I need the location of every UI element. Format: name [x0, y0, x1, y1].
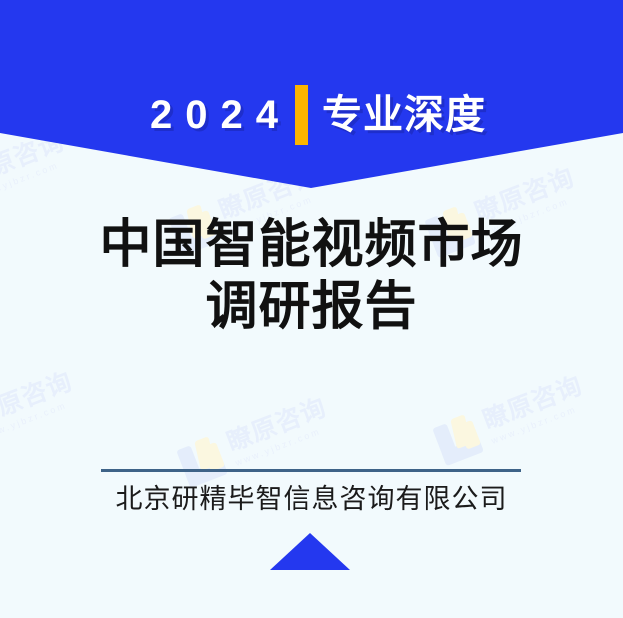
watermark-text: 瞭原咨询 www.yjbzr.com: [480, 373, 591, 446]
watermark-url: www.yjbzr.com: [490, 400, 590, 446]
watermark-tile: 瞭原咨询 www.yjbzr.com: [0, 365, 82, 464]
header-tagline: 专业深度: [322, 95, 486, 135]
triangle-ornament-icon: [270, 533, 350, 570]
watermark-url: www.yjbzr.com: [234, 422, 334, 468]
page-title-line-2: 调研报告: [0, 276, 623, 338]
watermark-url: www.yjbzr.com: [0, 156, 73, 202]
page-title: 中国智能视频市场 调研报告: [0, 214, 623, 338]
publisher-name: 北京研精毕智信息咨询有限公司: [0, 479, 623, 519]
header-banner: 2024 专业深度: [0, 0, 623, 190]
watermark-tile: 瞭原咨询 www.yjbzr.com: [173, 391, 336, 490]
report-year: 2024: [137, 95, 291, 135]
watermark-text: 瞭原咨询 www.yjbzr.com: [0, 369, 81, 442]
page-title-line-1: 中国智能视频市场: [0, 214, 623, 276]
watermark-company: 瞭原咨询: [480, 373, 586, 434]
watermark-text: 瞭原咨询 www.yjbzr.com: [224, 395, 335, 468]
watermark-company: 瞭原咨询: [224, 395, 330, 456]
watermark-company: 瞭原咨询: [0, 369, 76, 430]
header-content: 2024 专业深度: [0, 84, 623, 146]
accent-bar-divider: [295, 85, 308, 145]
report-cover: 瞭原咨询 www.yjbzr.com 瞭原咨询 www.yjbzr.com 瞭原…: [0, 0, 623, 618]
watermark-tile: 瞭原咨询 www.yjbzr.com: [429, 369, 592, 468]
horizontal-divider: [101, 469, 521, 472]
liaoyuan-logo-icon: [429, 409, 488, 468]
watermark-url: www.yjbzr.com: [0, 396, 81, 442]
